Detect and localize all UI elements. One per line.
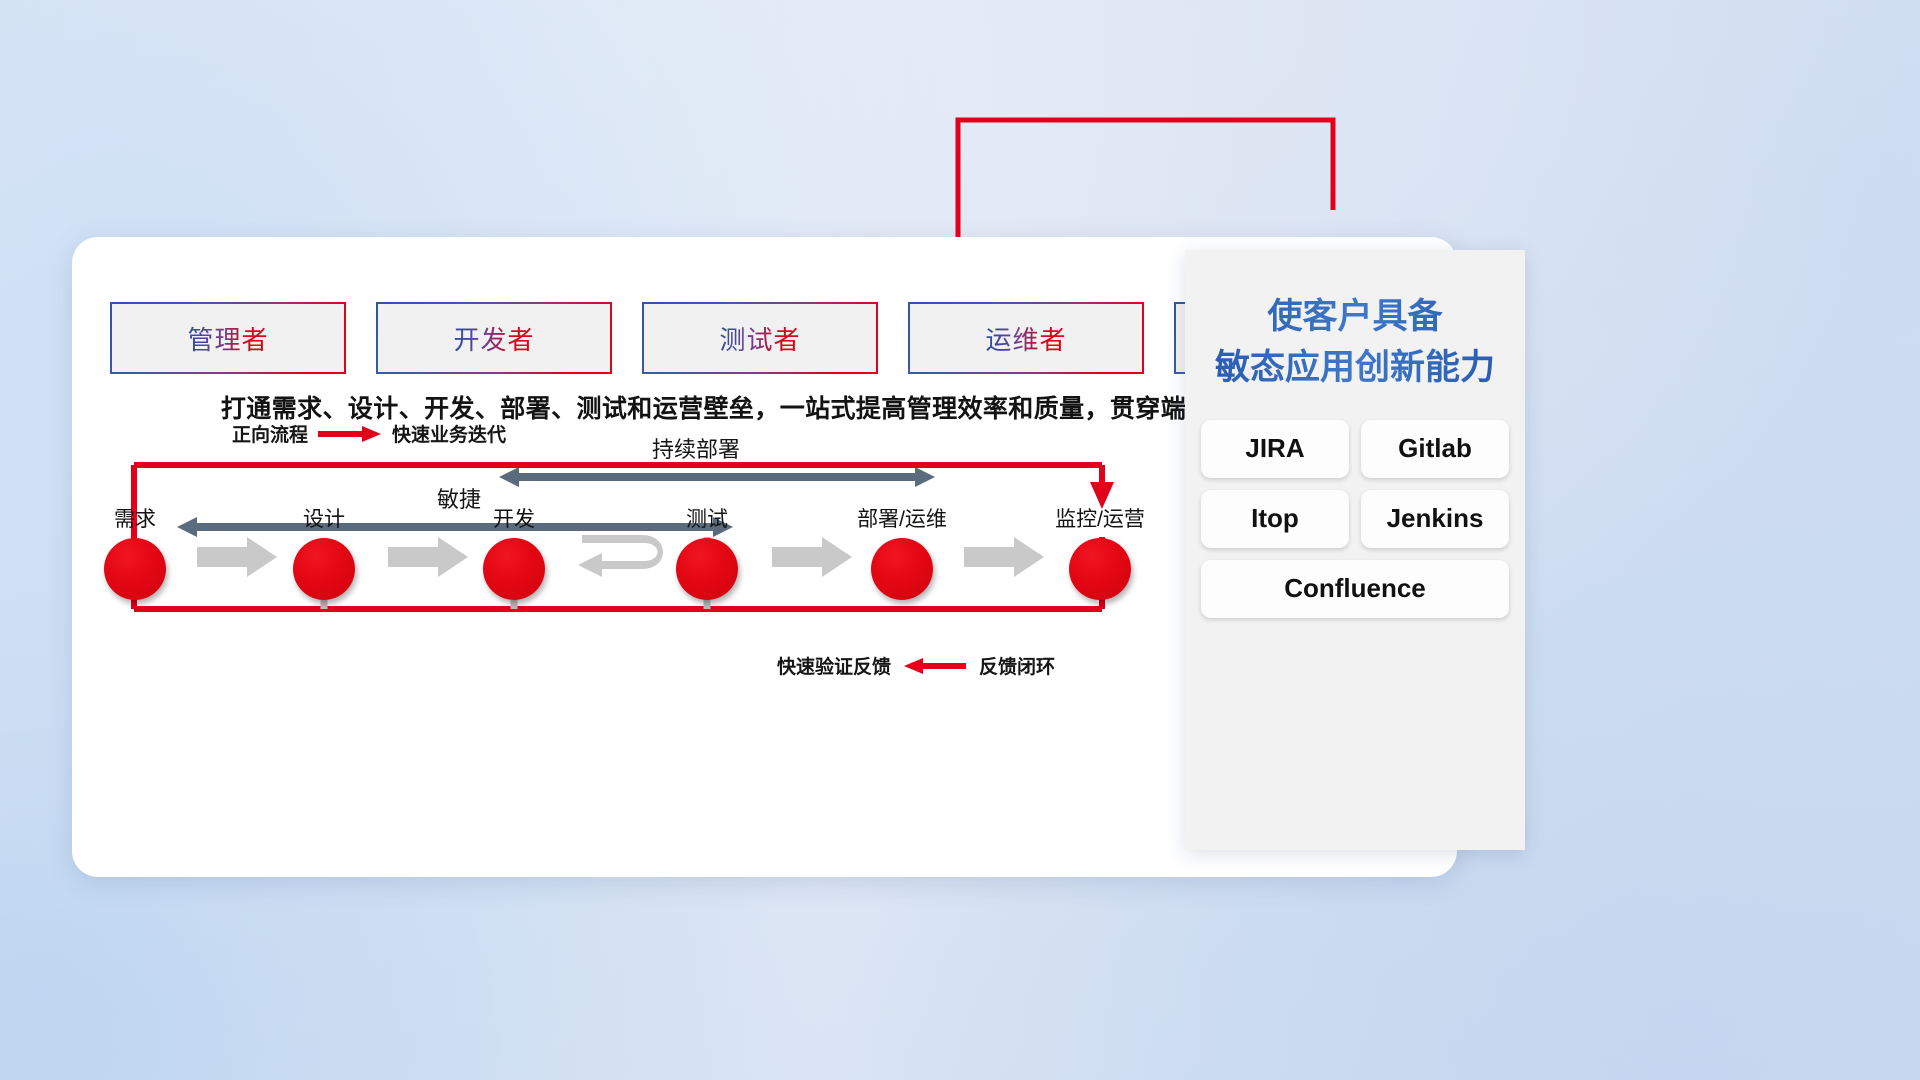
gray-arrow-4 [964, 537, 1046, 577]
stage-dot [293, 538, 355, 600]
role-label: 测试者 [719, 320, 800, 357]
stage-label: 监控/运营 [1040, 503, 1160, 533]
panel-title-line1: 使客户具备 [1185, 292, 1525, 343]
stage-dot [1069, 538, 1131, 600]
stage-label: 部署/运维 [842, 503, 962, 533]
tool-itop[interactable]: Itop [1201, 490, 1349, 548]
stage-dot [483, 538, 545, 600]
stage-dot [104, 538, 166, 600]
role-box-manager[interactable]: 管理者 [110, 302, 346, 374]
tools-panel: 使客户具备 敏态应用创新能力 JIRA Gitlab Itop Jenkins … [1185, 250, 1525, 850]
stage-design[interactable]: 设计 [264, 503, 384, 600]
tool-gitlab[interactable]: Gitlab [1361, 420, 1509, 478]
role-label: 开发者 [453, 320, 534, 357]
role-box-inner: 测试者 [644, 304, 877, 373]
stage-label: 开发 [454, 503, 574, 533]
role-box-inner: 开发者 [378, 304, 611, 373]
stage-label: 需求 [75, 503, 195, 533]
stage-label: 设计 [264, 503, 384, 533]
tool-jenkins[interactable]: Jenkins [1361, 490, 1509, 548]
tool-jira[interactable]: JIRA [1201, 420, 1349, 478]
panel-title-line2: 敏态应用创新能力 [1185, 343, 1525, 394]
panel-title: 使客户具备 敏态应用创新能力 [1185, 292, 1525, 394]
role-box-ops[interactable]: 运维者 [908, 302, 1144, 374]
stage-dot [871, 538, 933, 600]
role-label: 运维者 [985, 320, 1066, 357]
tool-confluence[interactable]: Confluence [1201, 560, 1509, 618]
role-box-inner: 运维者 [910, 304, 1143, 373]
stage-dot [676, 538, 738, 600]
role-box-tester[interactable]: 测试者 [642, 302, 878, 374]
role-box-inner: 管理者 [112, 304, 345, 373]
stage-testing[interactable]: 测试 [647, 503, 767, 600]
role-label: 管理者 [187, 320, 268, 357]
stage-label: 测试 [647, 503, 767, 533]
stage-deploy-ops[interactable]: 部署/运维 [842, 503, 962, 600]
stage-requirements[interactable]: 需求 [75, 503, 195, 600]
tool-list: JIRA Gitlab Itop Jenkins Confluence [1197, 420, 1513, 618]
stage-development[interactable]: 开发 [454, 503, 574, 600]
stage-monitor-operations[interactable]: 监控/运营 [1040, 503, 1160, 600]
role-box-developer[interactable]: 开发者 [376, 302, 612, 374]
